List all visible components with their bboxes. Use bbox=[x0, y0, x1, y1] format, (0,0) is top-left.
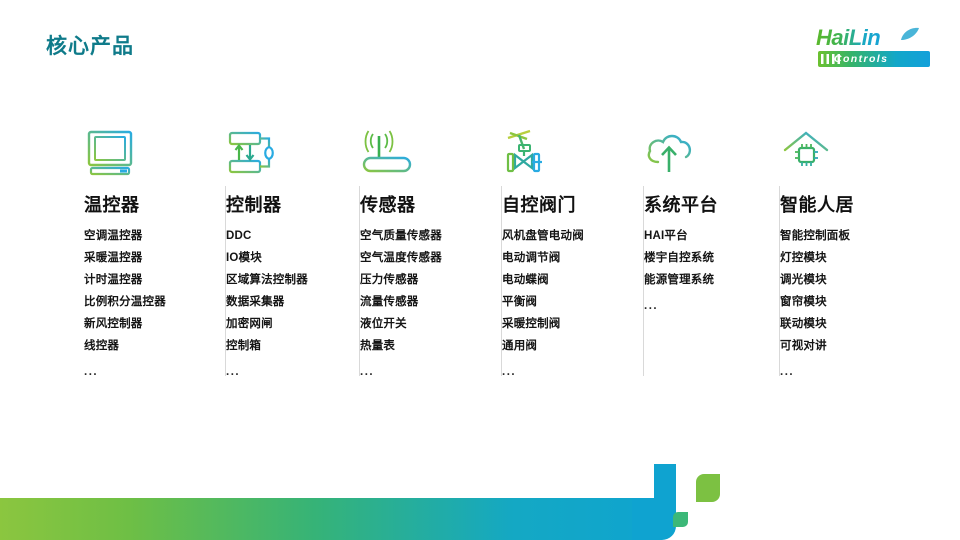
column-heading: 传感器 bbox=[360, 196, 488, 216]
list-item: 楼宇自控系统 bbox=[644, 247, 766, 269]
product-list: 智能控制面板 灯控模块 调光模块 窗帘模块 联动模块 可视对讲 ... bbox=[780, 225, 880, 383]
list-item: 新风控制器 bbox=[84, 313, 212, 335]
list-item: 窗帘模块 bbox=[780, 291, 880, 313]
list-more-indicator: ... bbox=[644, 291, 766, 317]
list-item: 加密网闸 bbox=[226, 313, 346, 335]
brand-logo: HaiLin Controls bbox=[804, 26, 932, 72]
page-title: 核心产品 bbox=[46, 36, 134, 57]
product-list: 空气质量传感器 空气温度传感器 压力传感器 流量传感器 液位开关 热量表 ... bbox=[360, 225, 488, 383]
decorative-square-small bbox=[673, 512, 688, 527]
smart-home-chip-icon bbox=[780, 128, 834, 178]
column-heading: 系统平台 bbox=[644, 196, 766, 216]
list-item: 控制箱 bbox=[226, 335, 346, 357]
list-item: IO模块 bbox=[226, 247, 346, 269]
product-column-controllers: 控制器 DDC IO模块 区域算法控制器 数据采集器 加密网闸 控制箱 ... bbox=[226, 128, 360, 383]
logo-subtext: Controls bbox=[834, 51, 888, 67]
list-item: 平衡阀 bbox=[502, 291, 630, 313]
valve-icon bbox=[502, 128, 556, 178]
product-column-platforms: 系统平台 HAI平台 楼宇自控系统 能源管理系统 ... bbox=[644, 128, 780, 317]
product-column-thermostats: 温控器 空调温控器 采暖温控器 计时温控器 比例积分温控器 新风控制器 线控器 … bbox=[84, 128, 226, 383]
list-item: 电动蝶阀 bbox=[502, 269, 630, 291]
footer-hook-notch bbox=[632, 464, 654, 498]
product-list: HAI平台 楼宇自控系统 能源管理系统 ... bbox=[644, 225, 766, 317]
slide-root: 核心产品 HaiLin Controls bbox=[0, 0, 960, 540]
sensor-antenna-icon bbox=[360, 128, 414, 178]
list-more-indicator: ... bbox=[226, 357, 346, 383]
list-item: 空气温度传感器 bbox=[360, 247, 488, 269]
list-item: 智能控制面板 bbox=[780, 225, 880, 247]
list-item: 调光模块 bbox=[780, 269, 880, 291]
list-more-indicator: ... bbox=[84, 357, 212, 383]
product-column-valves: 自控阀门 风机盘管电动阀 电动调节阀 电动蝶阀 平衡阀 采暖控制阀 通用阀 ..… bbox=[502, 128, 644, 383]
list-item: 采暖温控器 bbox=[84, 247, 212, 269]
column-heading: 温控器 bbox=[84, 196, 212, 216]
list-item: 采暖控制阀 bbox=[502, 313, 630, 335]
list-item: 区域算法控制器 bbox=[226, 269, 346, 291]
list-item: 电动调节阀 bbox=[502, 247, 630, 269]
leaf-icon bbox=[900, 27, 920, 41]
product-list: 空调温控器 采暖温控器 计时温控器 比例积分温控器 新风控制器 线控器 ... bbox=[84, 225, 212, 383]
product-list: 风机盘管电动阀 电动调节阀 电动蝶阀 平衡阀 采暖控制阀 通用阀 ... bbox=[502, 225, 630, 383]
list-item: 风机盘管电动阀 bbox=[502, 225, 630, 247]
controller-icon bbox=[226, 128, 280, 178]
list-item: 空调温控器 bbox=[84, 225, 212, 247]
column-heading: 自控阀门 bbox=[502, 196, 630, 216]
list-item: 压力传感器 bbox=[360, 269, 488, 291]
list-item: 数据采集器 bbox=[226, 291, 346, 313]
logo-wordmark: HaiLin bbox=[816, 26, 880, 50]
column-heading: 智能人居 bbox=[780, 196, 880, 216]
product-list: DDC IO模块 区域算法控制器 数据采集器 加密网闸 控制箱 ... bbox=[226, 225, 346, 383]
list-item: 通用阀 bbox=[502, 335, 630, 357]
list-more-indicator: ... bbox=[502, 357, 630, 383]
footer-gradient-bar bbox=[0, 498, 660, 540]
product-column-sensors: 传感器 空气质量传感器 空气温度传感器 压力传感器 流量传感器 液位开关 热量表… bbox=[360, 128, 502, 383]
list-item: HAI平台 bbox=[644, 225, 766, 247]
product-columns: 温控器 空调温控器 采暖温控器 计时温控器 比例积分温控器 新风控制器 线控器 … bbox=[84, 128, 894, 398]
list-item: 联动模块 bbox=[780, 313, 880, 335]
list-more-indicator: ... bbox=[360, 357, 488, 383]
cloud-upload-icon bbox=[644, 128, 698, 178]
list-item: 空气质量传感器 bbox=[360, 225, 488, 247]
list-item: 线控器 bbox=[84, 335, 212, 357]
list-item: DDC bbox=[226, 225, 346, 247]
list-item: 能源管理系统 bbox=[644, 269, 766, 291]
list-item: 热量表 bbox=[360, 335, 488, 357]
list-item: 比例积分温控器 bbox=[84, 291, 212, 313]
list-more-indicator: ... bbox=[780, 357, 880, 383]
list-item: 流量传感器 bbox=[360, 291, 488, 313]
list-item: 液位开关 bbox=[360, 313, 488, 335]
decorative-square-large bbox=[696, 474, 720, 502]
monitor-icon bbox=[84, 128, 138, 178]
list-item: 计时温控器 bbox=[84, 269, 212, 291]
list-item: 灯控模块 bbox=[780, 247, 880, 269]
column-heading: 控制器 bbox=[226, 196, 346, 216]
product-column-smart-home: 智能人居 智能控制面板 灯控模块 调光模块 窗帘模块 联动模块 可视对讲 ... bbox=[780, 128, 894, 383]
list-item: 可视对讲 bbox=[780, 335, 880, 357]
